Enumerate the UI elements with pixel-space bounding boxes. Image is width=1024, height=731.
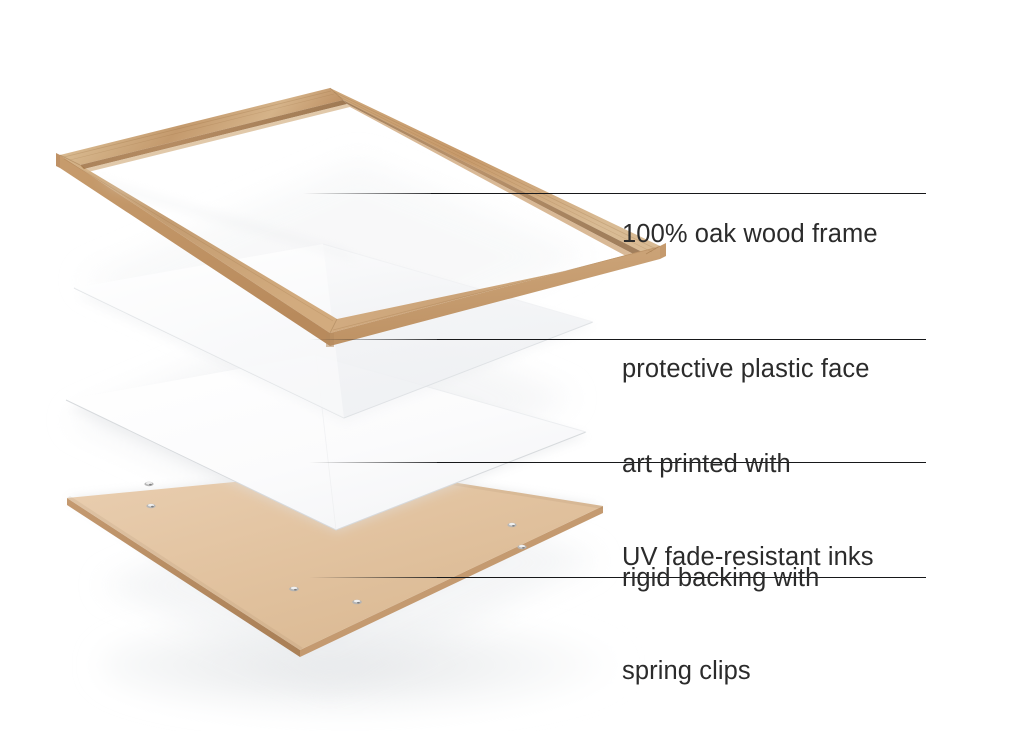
spring-clip <box>289 587 299 592</box>
spring-clip <box>146 504 155 508</box>
spring-clip <box>507 523 516 527</box>
diagram-canvas: 100% oak wood frame protective plastic f… <box>0 0 1024 731</box>
spring-clip <box>352 600 362 605</box>
frame-corner-bottom-join <box>326 333 334 347</box>
spring-clip <box>517 545 526 549</box>
spring-clip <box>144 482 153 486</box>
callout-plastic-line-1: protective plastic face <box>622 354 870 385</box>
frame-reveal-back-left <box>84 104 350 172</box>
frame-corner-left-cap <box>56 153 60 168</box>
frame-rail-back-left-top <box>60 88 343 165</box>
callout-backing-line-2: spring clips <box>622 656 819 687</box>
callout-label-frame: 100% oak wood frame <box>622 157 878 312</box>
callout-art-line-1: art printed with <box>622 449 874 480</box>
callout-backing-line-1: rigid backing with <box>622 563 819 594</box>
frame-rebate-back-left <box>80 100 347 169</box>
callout-frame-line-1: 100% oak wood frame <box>622 219 878 250</box>
callout-label-rigid-backing: rigid backing with spring clips <box>622 501 819 731</box>
